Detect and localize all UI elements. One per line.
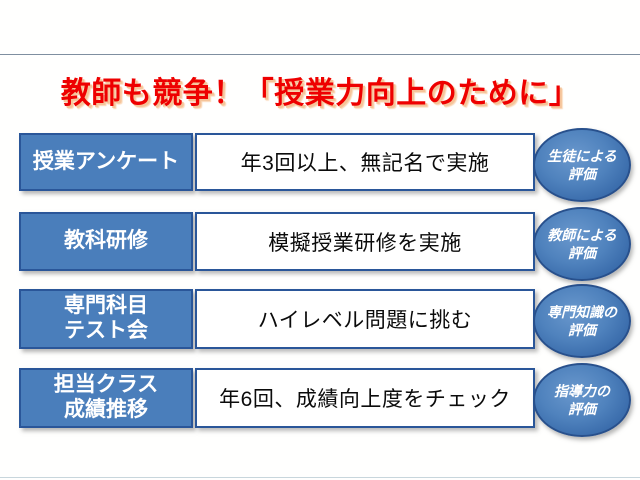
- category-label-text-line2: テスト会: [64, 319, 148, 344]
- category-label-text: 教科研修: [64, 229, 148, 254]
- description-box[interactable]: 年6回、成績向上度をチェック: [195, 368, 535, 428]
- item-row: 授業アンケート 年3回以上、無記名で実施: [19, 133, 535, 191]
- description-box[interactable]: 年3回以上、無記名で実施: [195, 133, 535, 191]
- item-row: 専門科目 テスト会 ハイレベル問題に挑む: [19, 289, 535, 349]
- item-row: 教科研修 模擬授業研修を実施: [19, 212, 535, 271]
- description-text: 模擬授業研修を実施: [268, 227, 462, 257]
- badge-line-1: 生徒による: [547, 147, 617, 165]
- category-label-text: 担当クラス: [54, 373, 159, 398]
- slide-title: 教師も競争！「授業力向上のために」: [0, 68, 640, 112]
- description-box[interactable]: 模擬授業研修を実施: [195, 212, 535, 271]
- category-label-text: 授業アンケート: [33, 150, 179, 175]
- category-label-box[interactable]: 専門科目 テスト会: [19, 289, 193, 349]
- category-label-text-line2: 成績推移: [54, 398, 159, 423]
- badge-line-2: 評価: [568, 165, 596, 183]
- evaluation-badge-ellipse[interactable]: 指導力の 評価: [533, 363, 631, 437]
- category-label-box[interactable]: 授業アンケート: [19, 133, 193, 191]
- badge-line-2: 評価: [568, 244, 596, 262]
- item-row: 担当クラス 成績推移 年6回、成績向上度をチェック: [19, 368, 535, 428]
- bottom-divider-rule: [0, 477, 640, 478]
- evaluation-badge-ellipse[interactable]: 専門知識の 評価: [533, 284, 631, 358]
- category-label-box[interactable]: 教科研修: [19, 212, 193, 271]
- top-divider-rule: [0, 54, 640, 55]
- description-text: 年3回以上、無記名で実施: [241, 147, 490, 177]
- category-label-text: 専門科目: [64, 294, 148, 319]
- description-text: ハイレベル問題に挑む: [258, 304, 473, 334]
- evaluation-badge-ellipse[interactable]: 教師による 評価: [533, 207, 631, 281]
- badge-line-1: 指導力の: [554, 382, 610, 400]
- description-text: 年6回、成績向上度をチェック: [219, 383, 511, 413]
- badge-line-1: 専門知識の: [547, 303, 617, 321]
- badge-line-2: 評価: [568, 400, 596, 418]
- description-box[interactable]: ハイレベル問題に挑む: [195, 289, 535, 349]
- category-label-box[interactable]: 担当クラス 成績推移: [19, 368, 193, 428]
- evaluation-badge-ellipse[interactable]: 生徒による 評価: [533, 128, 631, 202]
- slide-canvas: 教師も競争！「授業力向上のために」 授業アンケート 年3回以上、無記名で実施 生…: [0, 0, 640, 480]
- badge-line-2: 評価: [568, 321, 596, 339]
- badge-line-1: 教師による: [547, 226, 617, 244]
